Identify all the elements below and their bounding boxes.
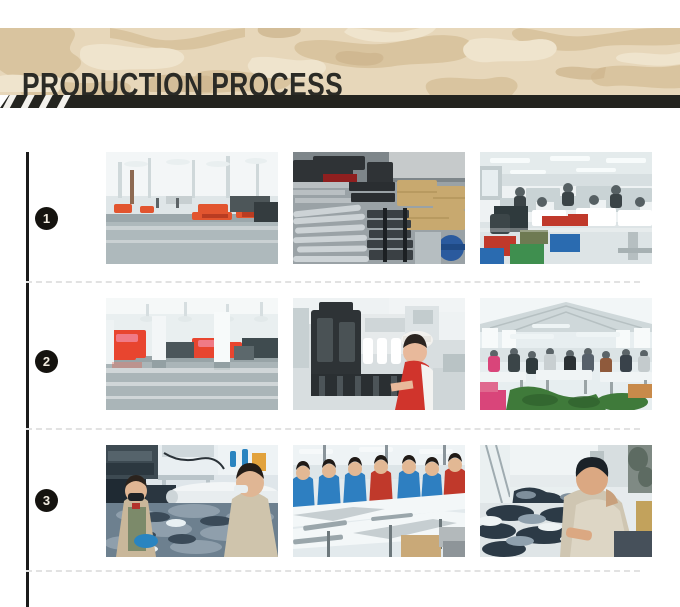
strip-left-notch: [0, 95, 9, 108]
step-divider: [26, 428, 640, 430]
metal-tubes-stock-photo[interactable]: [293, 152, 465, 264]
assembly-line-photo[interactable]: [293, 445, 465, 557]
process-step-row: 3: [0, 445, 680, 575]
header-camo-banner: PRODUCTION PROCESS: [0, 28, 680, 95]
header-accent-strip: [0, 95, 680, 108]
factory-hall-workers-photo[interactable]: [480, 298, 652, 410]
machine-operator-photo[interactable]: [293, 298, 465, 410]
production-process-page: PRODUCTION PROCESS 1: [0, 0, 680, 607]
sewing-workshop-photo[interactable]: [480, 152, 652, 264]
step-photo-group: [106, 445, 666, 575]
process-steps-section: 1: [0, 108, 680, 607]
step-photo-group: [106, 298, 666, 428]
diagonal-slashes-icon: [0, 95, 120, 108]
fabric-cutting-photo[interactable]: [106, 445, 278, 557]
step-divider: [26, 570, 640, 572]
sewing-station-photo[interactable]: [480, 445, 652, 557]
warehouse-floor-photo[interactable]: [106, 152, 278, 264]
step-number-badge: 2: [35, 350, 58, 373]
step-number-badge: 3: [35, 489, 58, 512]
pillared-warehouse-photo[interactable]: [106, 298, 278, 410]
page-title: PRODUCTION PROCESS: [22, 68, 343, 95]
process-step-row: 1: [0, 152, 680, 282]
process-step-row: 2: [0, 298, 680, 428]
step-number-badge: 1: [35, 207, 58, 230]
step-photo-group: [106, 152, 666, 282]
step-divider: [26, 281, 640, 283]
